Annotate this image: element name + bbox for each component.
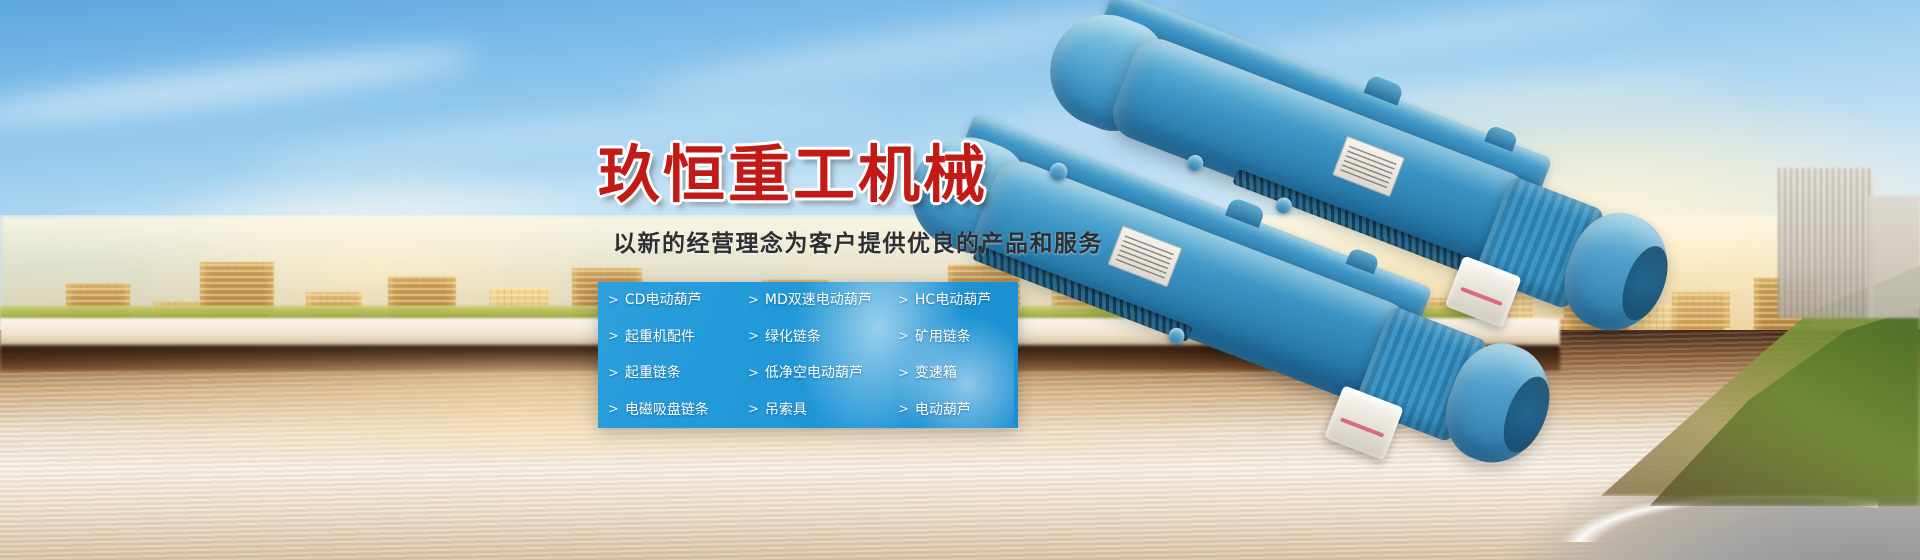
promotional-banner: 玖恒重工机械 以新的经营理念为客户提供优良的产品和服务 >CD电动葫芦>MD双速… bbox=[0, 0, 1920, 560]
chevron-right-icon: > bbox=[898, 367, 909, 380]
product-link[interactable]: >矿用链条 bbox=[898, 330, 1018, 344]
chevron-right-icon: > bbox=[748, 330, 759, 343]
chevron-right-icon: > bbox=[748, 294, 759, 307]
product-link-label: 矿用链条 bbox=[915, 330, 971, 344]
product-link[interactable]: >电磁吸盘链条 bbox=[608, 403, 748, 417]
product-links-grid: >CD电动葫芦>MD双速电动葫芦>HC电动葫芦>起重机配件>绿化链条>矿用链条>… bbox=[598, 282, 1018, 428]
product-link-label: 低净空电动葫芦 bbox=[765, 366, 863, 380]
product-link[interactable]: >起重链条 bbox=[608, 366, 748, 380]
product-link-label: 电磁吸盘链条 bbox=[625, 403, 709, 417]
product-link[interactable]: >绿化链条 bbox=[748, 330, 898, 344]
product-link-label: HC电动葫芦 bbox=[915, 293, 991, 307]
chevron-right-icon: > bbox=[898, 403, 909, 416]
chevron-right-icon: > bbox=[748, 403, 759, 416]
company-slogan: 以新的经营理念为客户提供优良的产品和服务 bbox=[613, 224, 1103, 258]
product-link-label: MD双速电动葫芦 bbox=[765, 293, 872, 307]
product-link[interactable]: >吊索具 bbox=[748, 403, 898, 417]
chevron-right-icon: > bbox=[898, 330, 909, 343]
product-link-label: 吊索具 bbox=[765, 403, 807, 417]
product-link-label: 绿化链条 bbox=[765, 330, 821, 344]
product-link[interactable]: >低净空电动葫芦 bbox=[748, 366, 898, 380]
chevron-right-icon: > bbox=[608, 330, 619, 343]
product-link[interactable]: >电动葫芦 bbox=[898, 403, 1018, 417]
product-link-label: 起重机配件 bbox=[625, 330, 695, 344]
banner-content: 玖恒重工机械 以新的经营理念为客户提供优良的产品和服务 >CD电动葫芦>MD双速… bbox=[0, 0, 1920, 560]
chevron-right-icon: > bbox=[608, 294, 619, 307]
product-link-label: 电动葫芦 bbox=[915, 403, 971, 417]
product-link[interactable]: >起重机配件 bbox=[608, 330, 748, 344]
product-link[interactable]: >变速箱 bbox=[898, 366, 1018, 380]
product-link[interactable]: >CD电动葫芦 bbox=[608, 293, 748, 307]
chevron-right-icon: > bbox=[608, 403, 619, 416]
chevron-right-icon: > bbox=[608, 367, 619, 380]
product-link-label: CD电动葫芦 bbox=[625, 293, 702, 307]
chevron-right-icon: > bbox=[748, 367, 759, 380]
product-link[interactable]: >MD双速电动葫芦 bbox=[748, 293, 898, 307]
product-link[interactable]: >HC电动葫芦 bbox=[898, 293, 1018, 307]
product-links-panel: >CD电动葫芦>MD双速电动葫芦>HC电动葫芦>起重机配件>绿化链条>矿用链条>… bbox=[598, 282, 1018, 428]
product-link-label: 变速箱 bbox=[915, 366, 957, 380]
company-title: 玖恒重工机械 bbox=[598, 124, 988, 214]
product-link-label: 起重链条 bbox=[625, 366, 681, 380]
chevron-right-icon: > bbox=[898, 294, 909, 307]
